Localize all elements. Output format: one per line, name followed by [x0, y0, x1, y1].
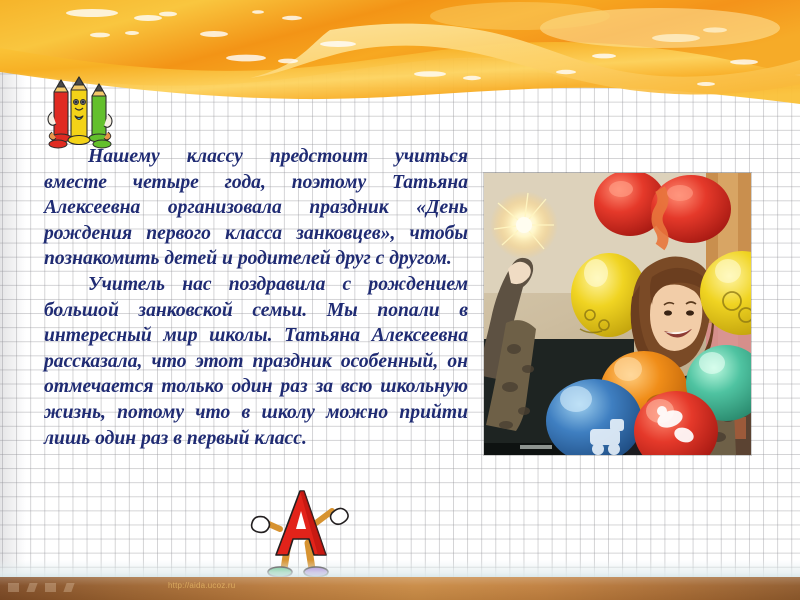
slide-nav-icons[interactable] [8, 583, 73, 592]
paragraph-2: Учитель нас поздравила с рождением больш… [44, 272, 468, 451]
paragraph-1: Нашему классу предстоит учиться вместе ч… [44, 144, 468, 272]
prev-slide-icon[interactable] [26, 583, 37, 592]
first-slide-icon[interactable] [8, 583, 19, 592]
presentation-slide: Нашему классу предстоит учиться вместе ч… [0, 0, 800, 600]
next-slide-icon[interactable] [45, 583, 56, 592]
bottom-bar-sheen [0, 577, 800, 600]
classroom-photo [484, 173, 751, 455]
bottom-navigation-bar [0, 577, 800, 600]
last-slide-icon[interactable] [63, 583, 74, 592]
pencils-clipart [42, 76, 120, 150]
footer-watermark: http://aida.ucoz.ru [168, 581, 235, 590]
header-swoosh-banner [0, 0, 800, 108]
slide-body-text: Нашему классу предстоит учиться вместе ч… [44, 144, 468, 451]
letter-a-clipart [246, 487, 354, 580]
